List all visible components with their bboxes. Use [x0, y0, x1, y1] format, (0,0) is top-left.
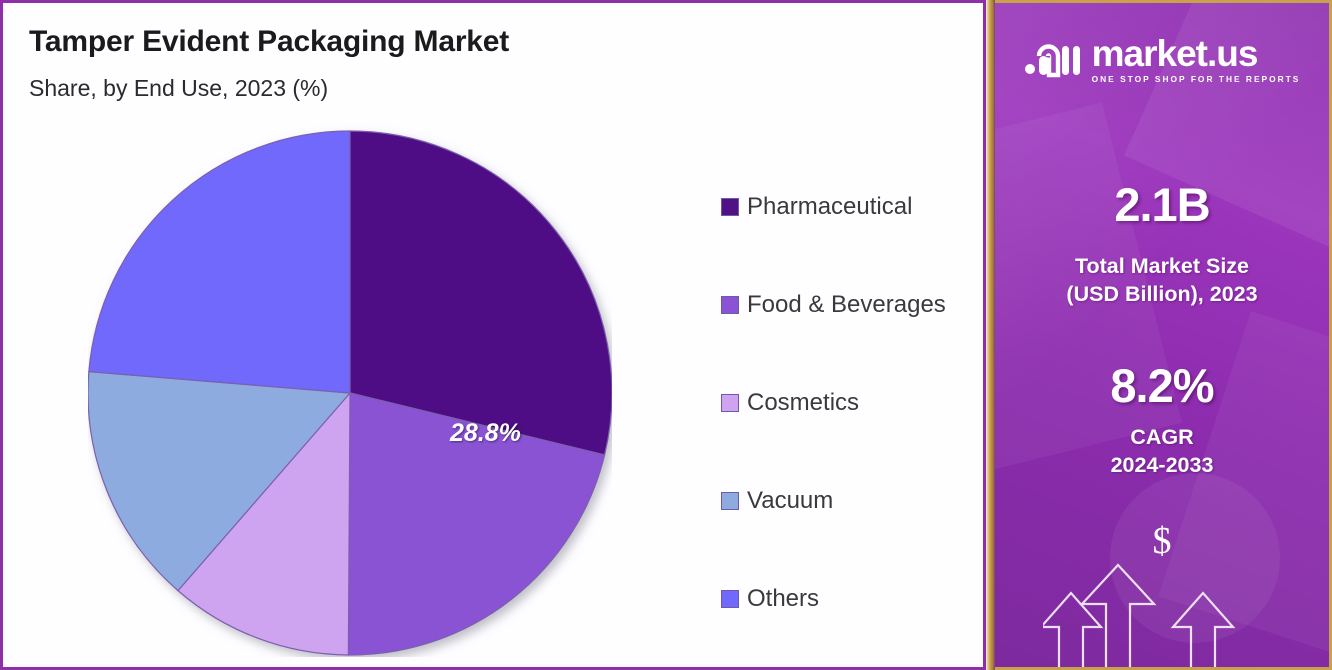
- pie-slice-others[interactable]: [89, 131, 350, 393]
- legend-item-others[interactable]: Others: [721, 550, 971, 648]
- chart-subtitle: Share, by End Use, 2023 (%): [29, 75, 328, 102]
- cagr-label-line2: 2024-2033: [995, 452, 1329, 480]
- pie-slice-group: [88, 131, 612, 655]
- cagr-label: CAGR 2024-2033: [995, 424, 1329, 479]
- brand-logo[interactable]: market.us ONE STOP SHOP FOR THE REPORTS: [995, 35, 1329, 83]
- pie-chart-svg: [88, 123, 612, 657]
- market-size-value: 2.1B: [995, 177, 1329, 232]
- legend-swatch-icon: [721, 198, 739, 216]
- market-us-logo-icon: [1024, 38, 1082, 80]
- legend-item-cosmetics[interactable]: Cosmetics: [721, 354, 971, 452]
- chart-card: Tamper Evident Packaging Market Share, b…: [0, 0, 986, 670]
- cagr-label-line1: CAGR: [995, 424, 1329, 452]
- market-size-label: Total Market Size (USD Billion), 2023: [995, 253, 1329, 308]
- logo-wordmark: market.us: [1092, 35, 1301, 72]
- brand-panel: market.us ONE STOP SHOP FOR THE REPORTS …: [995, 0, 1332, 670]
- legend-label: Others: [747, 585, 819, 613]
- market-size-label-line1: Total Market Size: [995, 253, 1329, 281]
- cagr-value: 8.2%: [995, 358, 1329, 413]
- growth-arrows-icon: [1043, 557, 1288, 670]
- legend-swatch-icon: [721, 590, 739, 608]
- legend-label: Food & Beverages: [747, 291, 946, 319]
- legend-swatch-icon: [721, 492, 739, 510]
- logo-tagline: ONE STOP SHOP FOR THE REPORTS: [1092, 75, 1301, 83]
- legend-label: Cosmetics: [747, 389, 859, 417]
- legend-label: Pharmaceutical: [747, 193, 912, 221]
- logo-text: market.us ONE STOP SHOP FOR THE REPORTS: [1092, 35, 1301, 83]
- legend-item-vacuum[interactable]: Vacuum: [721, 452, 971, 550]
- legend-item-pharmaceutical[interactable]: Pharmaceutical: [721, 158, 971, 256]
- market-size-label-line2: (USD Billion), 2023: [995, 281, 1329, 309]
- legend-label: Vacuum: [747, 487, 833, 515]
- panel-divider: [986, 0, 995, 670]
- legend-swatch-icon: [721, 394, 739, 412]
- page-title: Tamper Evident Packaging Market: [29, 25, 509, 59]
- legend-swatch-icon: [721, 296, 739, 314]
- legend: Pharmaceutical Food & Beverages Cosmetic…: [721, 158, 971, 648]
- infographic-root: Tamper Evident Packaging Market Share, b…: [0, 0, 1332, 670]
- legend-item-food-beverages[interactable]: Food & Beverages: [721, 256, 971, 354]
- pie-slice-label-pharmaceutical: 28.8%: [450, 419, 521, 448]
- pie-chart: 28.8%: [88, 123, 612, 657]
